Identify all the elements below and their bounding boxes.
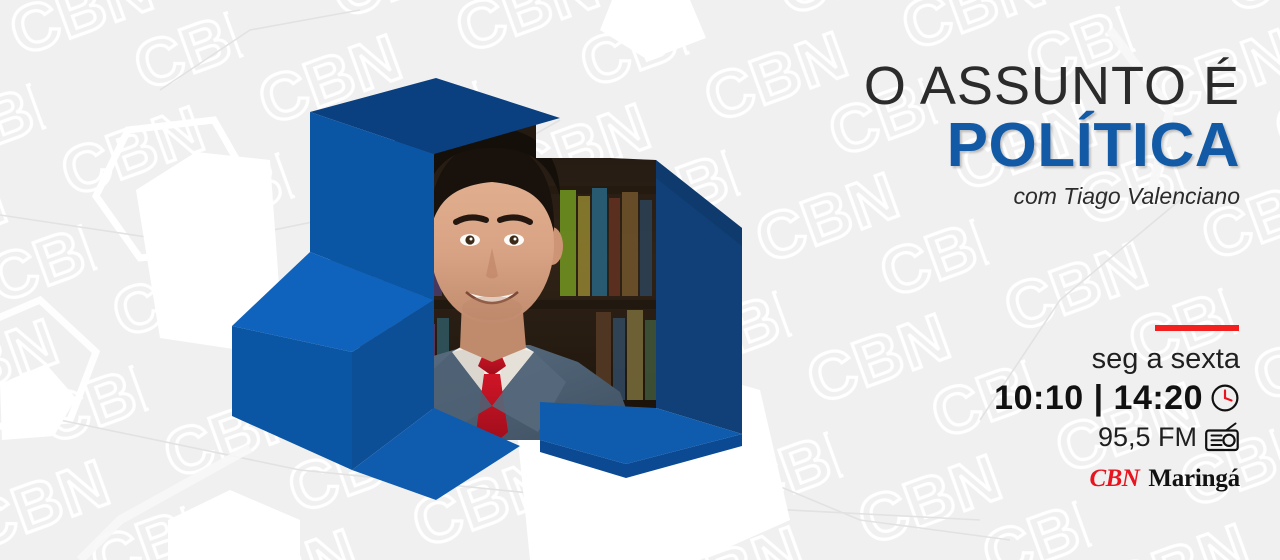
- schedule-times: 10:10 | 14:20: [994, 379, 1203, 418]
- radio-program-banner: CBN CBN: [0, 0, 1280, 560]
- program-title-line2: POLÍTICA: [820, 114, 1240, 177]
- schedule-frequency-row: 95,5 FM: [910, 422, 1240, 453]
- cbn-brand-text: CBN: [1089, 465, 1139, 493]
- program-title-block: O ASSUNTO É POLÍTICA com Tiago Valencian…: [820, 58, 1240, 210]
- radio-icon: [1204, 422, 1240, 452]
- cbn-city-text: Maringá: [1148, 465, 1240, 493]
- station-logo: CBN Maringá: [910, 465, 1240, 493]
- schedule-days: seg a sexta: [910, 343, 1240, 376]
- program-title-line1: O ASSUNTO É: [820, 58, 1240, 114]
- schedule-frequency: 95,5 FM: [1098, 422, 1197, 453]
- schedule-rule-wrap: [910, 325, 1240, 343]
- program-host-subtitle: com Tiago Valenciano: [820, 183, 1240, 210]
- red-divider-rule: [1155, 325, 1239, 331]
- schedule-block: seg a sexta 10:10 | 14:20 95,5 FM CBN M: [910, 325, 1240, 493]
- schedule-times-row: 10:10 | 14:20: [910, 379, 1240, 418]
- clock-icon: [1210, 383, 1240, 413]
